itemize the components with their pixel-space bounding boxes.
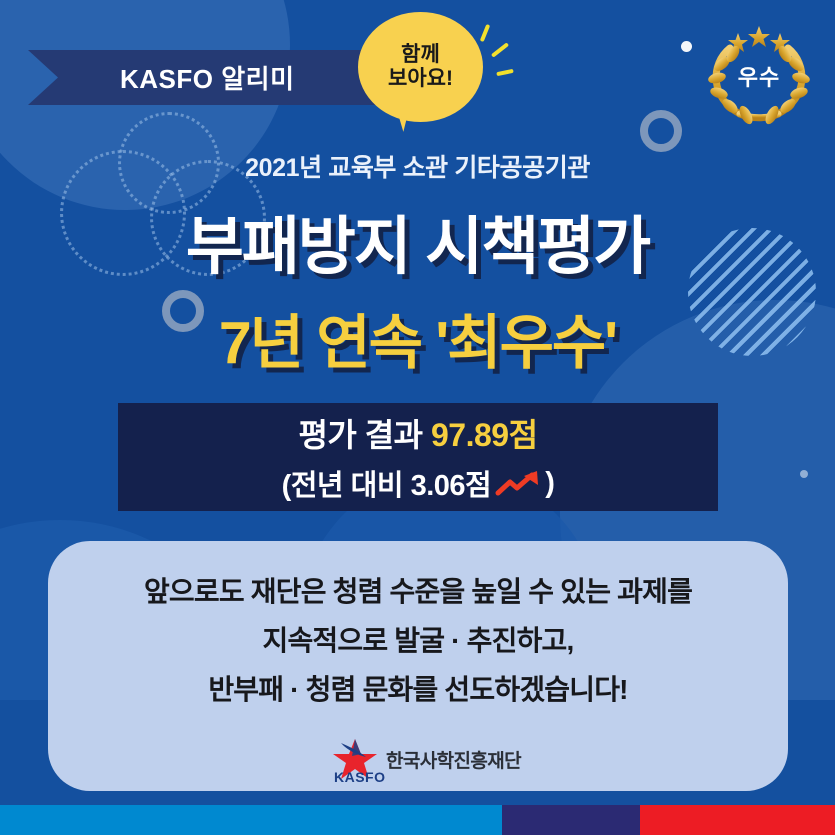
speech-bubble: 함께 보아요! xyxy=(358,12,498,142)
ribbon-label: KASFO 알리미 xyxy=(120,59,294,96)
speech-bubble-line-2: 보아요! xyxy=(388,67,453,91)
promo-card: KASFO 알리미 함께 보아요! xyxy=(0,0,835,835)
message-line-2: 지속적으로 발굴 · 추진하고, xyxy=(262,616,573,665)
bottom-bar-segment-navy xyxy=(502,805,640,835)
score-result-label: 평가 결과 xyxy=(298,417,422,453)
organization-name: 한국사학진흥재단 xyxy=(386,746,521,773)
bottom-bar-segment-cyan xyxy=(0,805,502,835)
kasfo-star-logo-icon: KASFO xyxy=(332,737,378,781)
kasfo-wordmark: KASFO xyxy=(334,769,386,785)
headline-block: 2021년 교육부 소관 기타공공기관 부패방지 시책평가 7년 연속 '최우수… xyxy=(0,148,835,380)
dot-icon xyxy=(681,41,692,52)
award-badge: 우수 xyxy=(700,14,818,126)
sparkle-icon xyxy=(496,69,513,76)
headline-kicker: 2021년 교육부 소관 기타공공기관 xyxy=(0,148,835,184)
headline-title: 부패방지 시책평가 xyxy=(0,196,835,287)
speech-bubble-line-1: 함께 xyxy=(401,43,440,67)
speech-bubble-body: 함께 보아요! xyxy=(358,12,483,122)
sparkle-icon xyxy=(480,24,490,42)
ring-icon xyxy=(640,110,682,152)
message-line-3: 반부패 · 청렴 문화를 선도하겠습니다! xyxy=(208,665,627,714)
bottom-bar-segment-red xyxy=(640,805,835,835)
trend-up-arrow-icon xyxy=(495,469,541,497)
score-result-value: 97.89점 xyxy=(431,417,538,453)
score-delta-row: (전년 대비 3.06점 ) xyxy=(282,462,555,504)
ribbon-banner: KASFO 알리미 xyxy=(28,50,388,105)
score-delta-close: ) xyxy=(545,467,554,500)
bottom-color-bar xyxy=(0,805,835,835)
award-badge-label: 우수 xyxy=(700,60,818,92)
score-result-row: 평가 결과 97.89점 xyxy=(298,410,537,456)
dot-icon xyxy=(800,470,808,478)
message-line-1: 앞으로도 재단은 청렴 수준을 높일 수 있는 과제를 xyxy=(144,567,692,616)
score-box: 평가 결과 97.89점 (전년 대비 3.06점 ) xyxy=(118,403,718,511)
headline-subtitle: 7년 연속 '최우수' xyxy=(0,295,835,380)
sparkle-icon xyxy=(491,42,509,57)
score-delta-text: (전년 대비 3.06점 xyxy=(282,462,492,504)
footer-logo: KASFO 한국사학진흥재단 xyxy=(332,730,532,788)
